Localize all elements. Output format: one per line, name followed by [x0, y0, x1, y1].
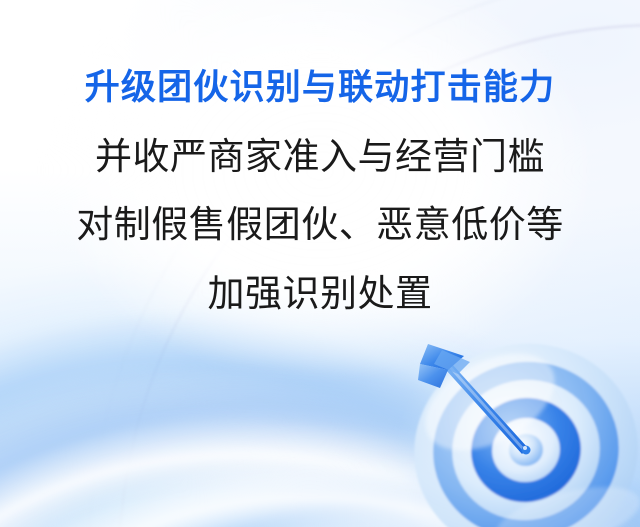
headline-line-2: 并收严商家准入与经营门槛 [0, 138, 640, 175]
target-with-arrow-graphic [418, 340, 640, 527]
headline-line-3: 对制假售假团伙、恶意低价等 [0, 206, 640, 243]
headline-line-4: 加强识别处置 [0, 275, 640, 312]
headline-title: 升级团伙识别与联动打击能力 [0, 70, 640, 105]
ribbon-haze-left [0, 300, 370, 527]
poster-canvas: 升级团伙识别与联动打击能力 并收严商家准入与经营门槛 对制假售假团伙、恶意低价等… [0, 0, 640, 527]
white-bloom [40, 0, 600, 380]
